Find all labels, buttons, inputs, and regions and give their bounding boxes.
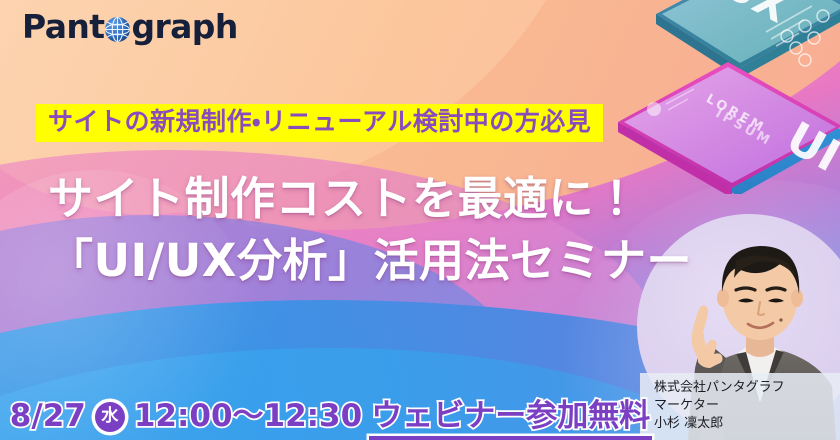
title-line-1: サイト制作コストを最適に！ (48, 168, 692, 230)
device-mockup-ux: UX (656, 0, 840, 78)
presenter-role: マーケター (654, 397, 832, 415)
schedule-price-note: ウェビナー参加無料 (371, 401, 650, 432)
presenter-company: 株式会社パンタグラフ (654, 379, 832, 397)
kicker-banner: サイトの新規制作・リニューアル検討中の方必見 (36, 104, 603, 142)
schedule-bar: 8/27 水 12:00〜12:30 ウェビナー参加無料 (0, 401, 660, 432)
logo-text-part1: Pant (22, 10, 104, 43)
globe-icon (105, 17, 130, 42)
device-mockups: UX (616, 0, 840, 194)
title-line-2: 「UI/UX分析」活用法セミナー (48, 230, 692, 292)
webinar-banner: Pant graph (0, 0, 840, 440)
page-title: サイト制作コストを最適に！ 「UI/UX分析」活用法セミナー (48, 168, 692, 292)
schedule-price-note-text: ウェビナー参加無料 (371, 398, 650, 434)
schedule-price-underline (369, 436, 652, 440)
presenter-credit: 株式会社パンタグラフ マーケター 小杉 凜太郎 (640, 373, 840, 440)
pantograph-logo: Pant graph (22, 10, 238, 43)
schedule-date: 8/27 (10, 401, 86, 432)
logo-text-part2: graph (131, 10, 237, 43)
schedule-day-of-week: 水 (95, 402, 125, 432)
schedule-time: 12:00〜12:30 (134, 401, 362, 432)
presenter-name: 小杉 凜太郎 (654, 415, 832, 433)
